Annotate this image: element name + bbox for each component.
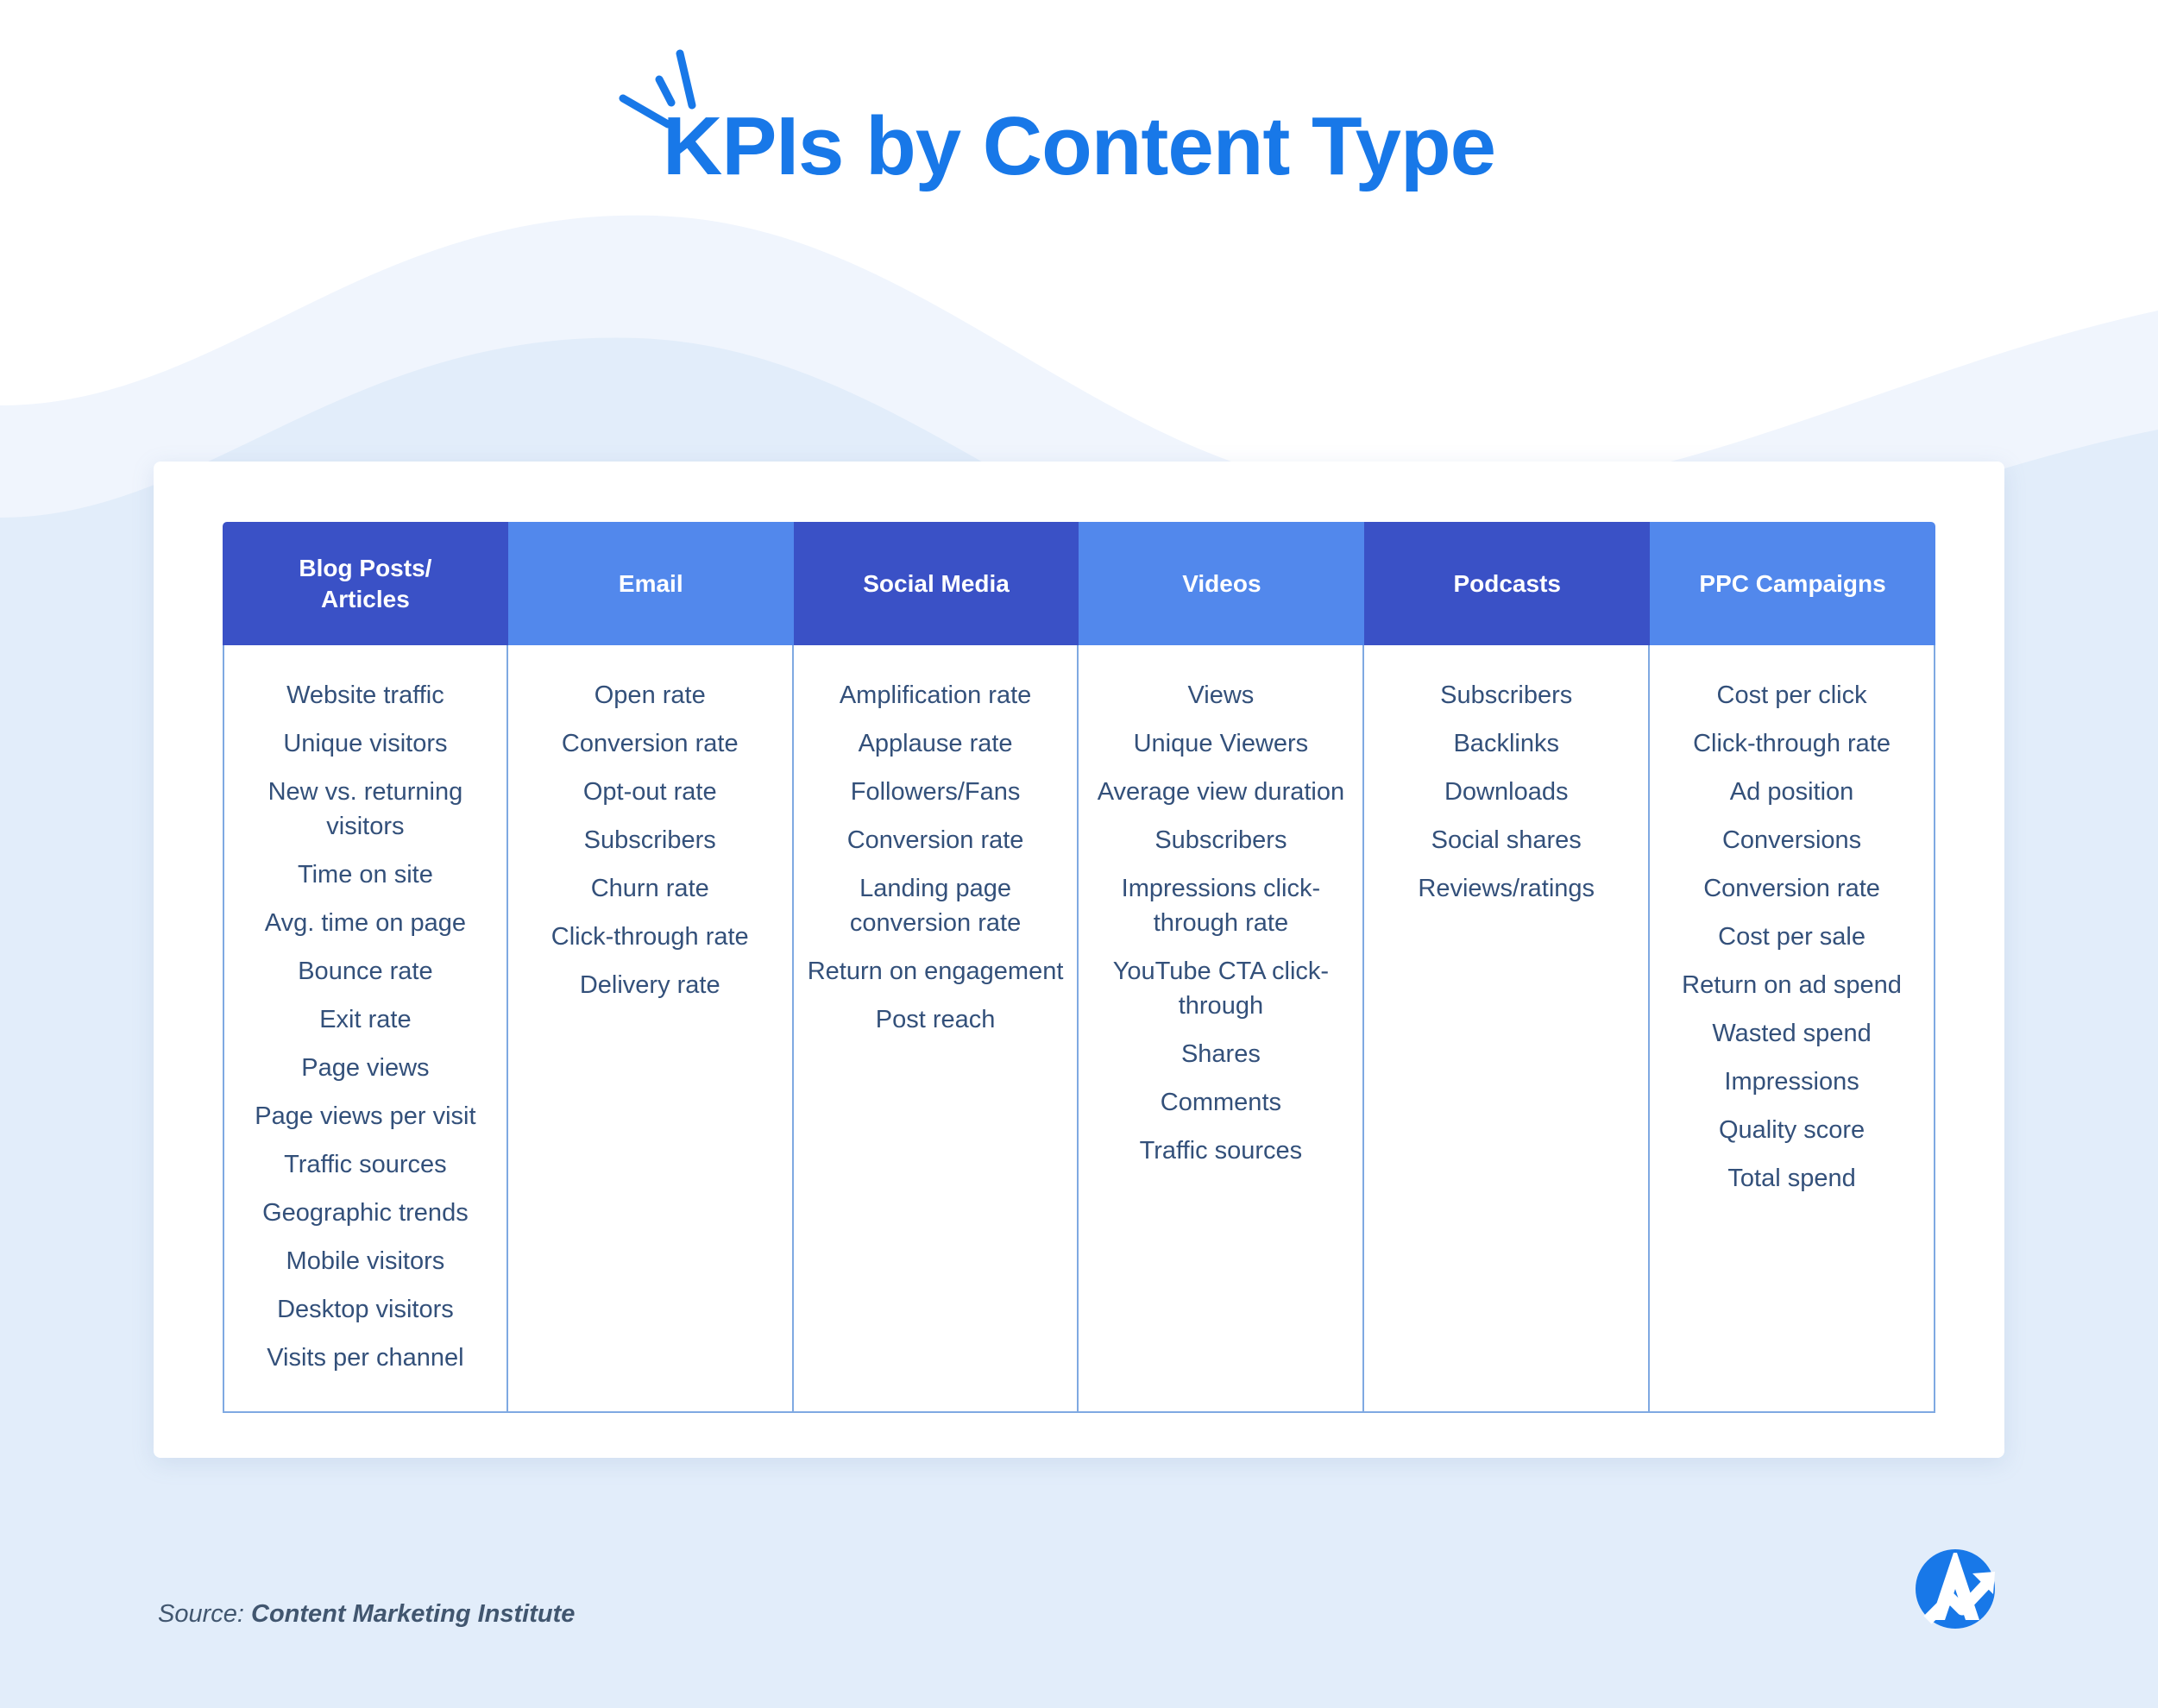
kpi-item: New vs. returning visitors bbox=[236, 775, 494, 844]
kpi-item: Subscribers bbox=[520, 823, 780, 857]
kpi-item: Return on engagement bbox=[806, 954, 1066, 989]
kpi-item: Landing page conversion rate bbox=[806, 871, 1066, 940]
kpi-item: Ad position bbox=[1662, 775, 1922, 809]
kpi-item: Total spend bbox=[1662, 1161, 1922, 1196]
kpi-item: Quality score bbox=[1662, 1113, 1922, 1147]
kpi-item: Applause rate bbox=[806, 726, 1066, 761]
kpi-item: Time on site bbox=[236, 857, 494, 892]
kpi-column-videos: Videos Views Unique Viewers Average view… bbox=[1079, 522, 1364, 1413]
kpi-item: Conversions bbox=[1662, 823, 1922, 857]
kpi-item: Comments bbox=[1091, 1085, 1350, 1120]
kpi-item: Subscribers bbox=[1091, 823, 1350, 857]
kpi-item: Mobile visitors bbox=[236, 1244, 494, 1278]
kpi-item: Geographic trends bbox=[236, 1196, 494, 1230]
kpi-item: Churn rate bbox=[520, 871, 780, 906]
kpi-list-email: Open rate Conversion rate Opt-out rate S… bbox=[508, 645, 794, 1413]
kpi-item: Views bbox=[1091, 678, 1350, 713]
kpi-item: Desktop visitors bbox=[236, 1292, 494, 1327]
kpi-item: Avg. time on page bbox=[236, 906, 494, 940]
source-name: Content Marketing Institute bbox=[251, 1600, 575, 1628]
source-label: Source: bbox=[158, 1600, 244, 1628]
kpi-list-blog-posts-articles: Website traffic Unique visitors New vs. … bbox=[223, 645, 508, 1413]
column-header-videos[interactable]: Videos bbox=[1079, 522, 1364, 645]
kpi-item: Website traffic bbox=[236, 678, 494, 713]
kpi-item: Opt-out rate bbox=[520, 775, 780, 809]
kpi-column-podcasts: Podcasts Subscribers Backlinks Downloads… bbox=[1364, 522, 1650, 1413]
brand-logo-a-arrow-icon[interactable] bbox=[1905, 1537, 2016, 1648]
kpi-item: Followers/Fans bbox=[806, 775, 1066, 809]
source-credit: Source: Content Marketing Institute bbox=[158, 1600, 575, 1629]
kpi-item: Post reach bbox=[806, 1002, 1066, 1037]
kpi-column-social-media: Social Media Amplification rate Applause… bbox=[794, 522, 1079, 1413]
kpi-item: Page views bbox=[236, 1051, 494, 1085]
page-title: KPIs by Content Type bbox=[663, 104, 1495, 191]
kpi-list-podcasts: Subscribers Backlinks Downloads Social s… bbox=[1364, 645, 1650, 1413]
kpi-item: Return on ad spend bbox=[1662, 968, 1922, 1002]
column-header-line1: Blog Posts/ bbox=[299, 555, 431, 581]
kpi-column-email: Email Open rate Conversion rate Opt-out … bbox=[508, 522, 794, 1413]
column-header-blog-posts-articles[interactable]: Blog Posts/ Articles bbox=[223, 522, 508, 645]
kpi-item: Traffic sources bbox=[1091, 1133, 1350, 1168]
kpi-item: Traffic sources bbox=[236, 1147, 494, 1182]
kpi-item: Bounce rate bbox=[236, 954, 494, 989]
kpi-item: Impressions bbox=[1662, 1064, 1922, 1099]
kpi-item: Shares bbox=[1091, 1037, 1350, 1071]
column-header-podcasts[interactable]: Podcasts bbox=[1364, 522, 1650, 645]
kpi-item: Cost per sale bbox=[1662, 920, 1922, 954]
column-header-ppc-campaigns[interactable]: PPC Campaigns bbox=[1650, 522, 1935, 645]
kpi-item: Click-through rate bbox=[1662, 726, 1922, 761]
kpi-item: Amplification rate bbox=[806, 678, 1066, 713]
kpi-item: Page views per visit bbox=[236, 1099, 494, 1133]
kpi-list-ppc-campaigns: Cost per click Click-through rate Ad pos… bbox=[1650, 645, 1935, 1413]
kpi-item: YouTube CTA click-through bbox=[1091, 954, 1350, 1023]
kpi-item: Delivery rate bbox=[520, 968, 780, 1002]
kpi-column-blog-posts-articles: Blog Posts/ Articles Website traffic Uni… bbox=[223, 522, 508, 1413]
kpi-item: Open rate bbox=[520, 678, 780, 713]
kpi-item: Conversion rate bbox=[1662, 871, 1922, 906]
title-block: KPIs by Content Type bbox=[0, 104, 2158, 191]
kpi-item: Wasted spend bbox=[1662, 1016, 1922, 1051]
kpi-column-ppc-campaigns: PPC Campaigns Cost per click Click-throu… bbox=[1650, 522, 1935, 1413]
kpi-item: Unique Viewers bbox=[1091, 726, 1350, 761]
column-header-email[interactable]: Email bbox=[508, 522, 794, 645]
kpi-item: Backlinks bbox=[1376, 726, 1636, 761]
kpi-item: Downloads bbox=[1376, 775, 1636, 809]
kpi-item: Visits per channel bbox=[236, 1341, 494, 1375]
kpi-item: Social shares bbox=[1376, 823, 1636, 857]
kpi-item: Impressions click-through rate bbox=[1091, 871, 1350, 940]
kpi-item: Average view duration bbox=[1091, 775, 1350, 809]
column-header-line2: Articles bbox=[321, 586, 410, 612]
column-header-social-media[interactable]: Social Media bbox=[794, 522, 1079, 645]
kpi-list-videos: Views Unique Viewers Average view durati… bbox=[1079, 645, 1364, 1413]
kpi-item: Click-through rate bbox=[520, 920, 780, 954]
kpi-list-social-media: Amplification rate Applause rate Followe… bbox=[794, 645, 1079, 1413]
kpi-item: Conversion rate bbox=[520, 726, 780, 761]
kpi-item: Unique visitors bbox=[236, 726, 494, 761]
kpi-table: Blog Posts/ Articles Website traffic Uni… bbox=[223, 522, 1935, 1413]
kpi-item: Cost per click bbox=[1662, 678, 1922, 713]
kpi-item: Conversion rate bbox=[806, 823, 1066, 857]
kpi-item: Subscribers bbox=[1376, 678, 1636, 713]
kpi-item: Exit rate bbox=[236, 1002, 494, 1037]
kpi-item: Reviews/ratings bbox=[1376, 871, 1636, 906]
